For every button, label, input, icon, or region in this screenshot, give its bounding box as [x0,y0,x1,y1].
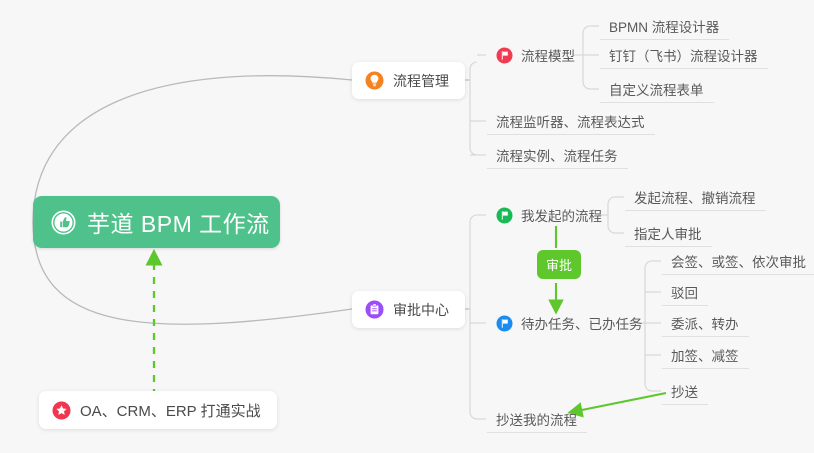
root-label: 芋道 BPM 工作流 [87,205,270,239]
leaf-assignee-approval[interactable]: 指定人审批 [625,219,712,247]
approval-badge-label: 审批 [546,255,572,274]
node-listener-expression[interactable]: 流程监听器、流程表达式 [487,107,655,135]
branch-label: 审批中心 [393,300,449,320]
mindmap-canvas: 芋道 BPM 工作流 OA、CRM、ERP 打通实战 流程管理 [0,0,814,453]
note-label: OA、CRM、ERP 打通实战 [80,400,261,421]
leaf-start-cancel-process[interactable]: 发起流程、撤销流程 [625,183,766,211]
node-label: 待办任务、已办任务 [521,313,643,333]
thumbs-up-icon [51,210,76,235]
leaf-bpmn-designer[interactable]: BPMN 流程设计器 [600,12,729,40]
approval-badge: 审批 [537,250,581,279]
leaf-label: BPMN 流程设计器 [609,16,719,36]
leaf-dingtalk-designer[interactable]: 钉钉（飞书）流程设计器 [600,41,768,69]
leaf-label: 自定义流程表单 [609,79,704,99]
flag-icon-blue [496,315,513,332]
leaf-label: 发起流程、撤销流程 [634,187,756,207]
node-label: 流程实例、流程任务 [496,145,618,165]
leaf-label: 加签、减签 [671,345,739,365]
leaf-label: 指定人审批 [634,223,702,243]
leaf-label: 会签、或签、依次审批 [671,251,806,271]
node-label: 我发起的流程 [521,205,602,225]
node-my-initiated-process[interactable]: 我发起的流程 [487,201,612,229]
leaf-label: 委派、转办 [671,313,739,333]
leaf-cc[interactable]: 抄送 [662,377,708,405]
leaf-custom-form[interactable]: 自定义流程表单 [600,75,714,103]
leaf-label: 钉钉（飞书）流程设计器 [609,45,758,65]
node-label: 流程模型 [521,45,575,65]
lightbulb-icon [365,71,384,90]
note-node[interactable]: OA、CRM、ERP 打通实战 [39,391,277,429]
leaf-label: 抄送 [671,381,698,401]
node-todo-done-tasks[interactable]: 待办任务、已办任务 [487,309,653,337]
root-node[interactable]: 芋道 BPM 工作流 [33,196,280,248]
node-label: 流程监听器、流程表达式 [496,111,645,131]
flag-icon-green [496,207,513,224]
node-instance-task[interactable]: 流程实例、流程任务 [487,141,628,169]
star-icon [52,401,71,420]
leaf-label: 驳回 [671,282,698,302]
leaf-delegate-transfer[interactable]: 委派、转办 [662,309,749,337]
branch-node-process-management[interactable]: 流程管理 [352,62,465,99]
leaf-countersign[interactable]: 会签、或签、依次审批 [662,247,814,275]
node-label: 抄送我的流程 [496,409,577,429]
clipboard-icon [365,300,384,319]
flag-icon-red [496,47,513,64]
node-cc-to-me[interactable]: 抄送我的流程 [487,405,587,433]
leaf-reject[interactable]: 驳回 [662,278,708,306]
branch-node-approval-center[interactable]: 审批中心 [352,291,465,328]
branch-label: 流程管理 [393,71,449,91]
node-process-model[interactable]: 流程模型 [487,41,585,69]
leaf-add-remove-sign[interactable]: 加签、减签 [662,341,749,369]
